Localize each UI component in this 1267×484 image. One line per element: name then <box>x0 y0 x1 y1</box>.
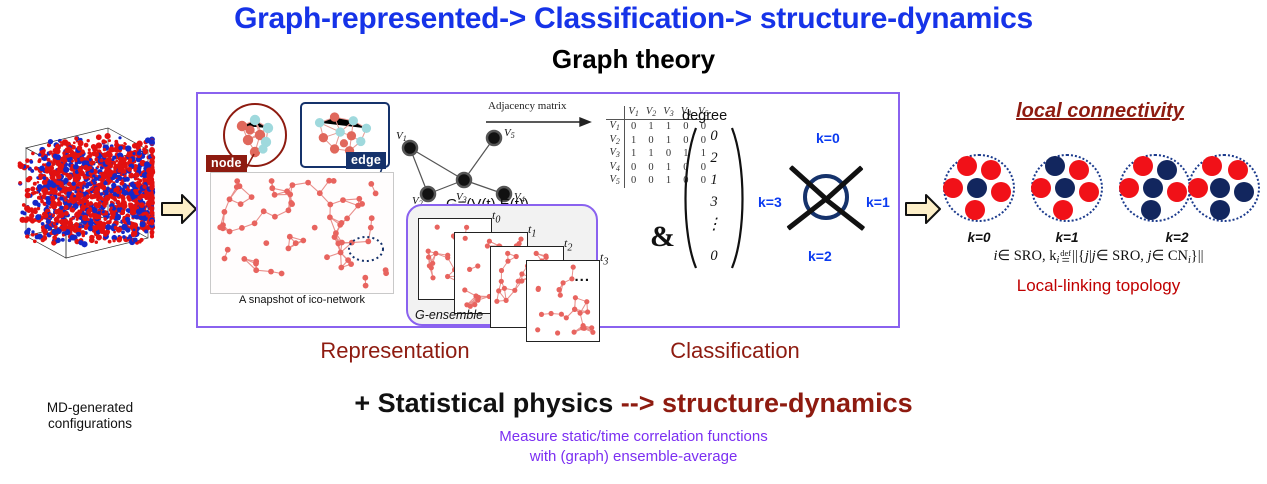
md-atom-blue <box>46 162 51 167</box>
stat-suffix: --> structure-dynamics <box>621 388 913 418</box>
degree-value-2: 1 <box>696 172 732 189</box>
md-atom-red <box>89 187 93 191</box>
mini-node <box>519 271 524 276</box>
md-atom-blue <box>48 139 53 144</box>
md-atom-red <box>69 217 73 221</box>
md-atom-blue <box>92 174 95 177</box>
network-node <box>356 196 362 202</box>
md-atom-red <box>150 211 155 216</box>
network-node <box>287 234 293 240</box>
md-atom-red <box>52 235 57 240</box>
sro-in-sro: ∈ SRO, <box>997 248 1045 264</box>
md-atom-blue <box>61 238 65 242</box>
mini-node <box>572 307 577 312</box>
md-atom-blue <box>76 232 81 237</box>
cluster-label-k0: k=0 <box>934 230 1024 245</box>
md-atom-blue <box>48 226 52 230</box>
md-atom-red <box>144 145 148 149</box>
md-atom-red <box>74 212 80 218</box>
network-node <box>333 230 339 236</box>
atom-blue <box>1045 156 1065 176</box>
md-atom-red <box>62 151 65 154</box>
atom-red <box>943 178 963 198</box>
md-atom-red <box>150 219 154 223</box>
adjacency-col-head-0: V1 <box>624 106 642 120</box>
md-atom-red <box>41 229 44 232</box>
md-atom-red <box>108 139 111 142</box>
md-atom-red <box>126 152 132 158</box>
mini-node <box>426 249 431 254</box>
g-ensemble-box: t0 t1 t2 t3 ... G-ensemble <box>406 204 598 326</box>
mini-node <box>430 275 435 280</box>
md-atom-red <box>105 133 111 139</box>
cluster-label-k2: k=2 <box>1132 230 1222 245</box>
md-atom-red <box>31 210 35 214</box>
md-atom-red <box>80 205 86 211</box>
md-atom-red <box>73 228 78 233</box>
network-node <box>238 201 244 207</box>
md-atom-red <box>126 195 130 199</box>
mini-node <box>514 254 519 259</box>
md-atom-red <box>110 154 113 157</box>
mini-node <box>487 239 492 244</box>
md-atom-blue <box>144 161 150 167</box>
md-atom-red <box>72 153 78 159</box>
network-node <box>327 214 333 220</box>
md-atom-blue <box>121 230 125 234</box>
adjacency-corner-cell <box>606 106 624 120</box>
right-arrow-icon <box>160 192 198 226</box>
network-node <box>269 178 275 184</box>
md-atom-blue <box>63 167 69 173</box>
md-atom-red <box>145 197 148 200</box>
md-atom-red <box>67 187 72 192</box>
adjacency-cell-4-2: 1 <box>660 174 677 188</box>
network-node <box>383 270 389 276</box>
md-atom-red <box>97 165 100 168</box>
md-atom-red <box>128 158 132 162</box>
md-configuration-figure: MD-generated configurations <box>8 108 158 288</box>
md-cube-icon <box>8 108 158 268</box>
atom-red <box>1079 182 1099 202</box>
md-atom-red <box>113 147 119 153</box>
md-atom-red <box>51 162 55 166</box>
adjacency-col-head-2: V3 <box>660 106 677 120</box>
md-atom-red <box>25 234 29 238</box>
md-atom-red <box>121 196 126 201</box>
ensemble-time-3: t3 <box>600 250 608 267</box>
md-atom-blue <box>124 179 127 182</box>
network-node <box>324 254 330 260</box>
md-atom-red <box>150 152 153 155</box>
ampersand-symbol: & <box>650 220 675 254</box>
mini-node <box>536 286 541 291</box>
degree-value-5: 0 <box>696 248 732 265</box>
md-atom-blue <box>90 169 94 173</box>
atom-red <box>957 156 977 176</box>
adjacency-cell-3-2: 1 <box>660 161 677 175</box>
adjacency-cell-3-1: 0 <box>642 161 659 175</box>
md-atom-blue <box>66 191 71 196</box>
md-atom-red <box>49 150 53 154</box>
sro-in-sro2: ∈ SRO, <box>1096 248 1144 264</box>
mini-node <box>504 298 509 303</box>
md-atom-red <box>50 175 55 180</box>
md-atom-red <box>87 139 90 142</box>
network-node <box>268 269 274 275</box>
measure-line-2: with (graph) ensemble-average <box>0 447 1267 467</box>
arrow-md-to-graph <box>160 192 198 231</box>
sro-formula: i∈ SRO, kidef=||{j|j∈ SRO, j∈ CNi}|| <box>930 248 1267 266</box>
arrow-graph-to-connectivity <box>904 192 942 231</box>
adjacency-cell-2-1: 1 <box>642 147 659 161</box>
md-atom-red <box>139 202 145 208</box>
network-node <box>288 200 294 206</box>
md-atom-blue <box>38 153 42 157</box>
md-atom-red <box>64 199 67 202</box>
mini-node <box>518 237 523 242</box>
md-atom-blue <box>39 166 45 172</box>
md-atom-red <box>146 214 149 217</box>
md-atom-red <box>25 192 31 198</box>
network-node <box>227 196 233 202</box>
md-atom-blue <box>130 194 136 200</box>
mini-node <box>499 268 504 273</box>
md-atom-red <box>54 209 60 215</box>
mini-node <box>539 312 544 317</box>
md-atom-blue <box>118 146 123 151</box>
adjacency-cell-3-0: 0 <box>624 161 642 175</box>
network-node <box>290 182 296 188</box>
md-atom-red <box>82 196 88 202</box>
md-atom-red <box>84 165 89 170</box>
adjacency-matrix-title: Adjacency matrix <box>488 100 567 112</box>
md-atom-blue <box>53 154 58 159</box>
right-arrow-icon <box>904 192 942 226</box>
atom-red <box>991 182 1011 202</box>
md-atom-red <box>78 140 82 144</box>
network-node <box>249 194 255 200</box>
atom-red <box>1069 160 1089 180</box>
adjacency-arrow-icon <box>486 116 598 128</box>
md-atom-red <box>66 225 70 229</box>
md-atom-red <box>121 203 127 209</box>
network-node <box>263 240 269 246</box>
mini-node <box>558 293 563 298</box>
network-node <box>373 191 379 197</box>
md-atom-red <box>38 173 42 177</box>
md-atom-red <box>18 161 22 165</box>
md-atom-red <box>74 136 78 140</box>
md-atom-red <box>53 222 56 225</box>
network-node <box>279 271 285 277</box>
cluster-k0 <box>941 152 1017 224</box>
md-atom-blue <box>140 221 146 227</box>
md-atom-red <box>150 232 154 236</box>
network-node <box>368 181 374 187</box>
mini-node <box>494 299 499 304</box>
md-atom-red <box>73 141 76 144</box>
md-atom-red <box>123 216 126 219</box>
md-atom-red <box>81 158 84 161</box>
highlight-ellipse <box>346 234 386 264</box>
md-atom-red <box>94 214 100 220</box>
node-label: node <box>206 155 247 172</box>
atom-blue <box>1143 178 1163 198</box>
md-atom-red <box>89 153 93 157</box>
network-node <box>272 192 278 198</box>
degree-value-4: ⋮ <box>696 214 732 234</box>
md-atom-red <box>150 208 153 211</box>
md-atom-red <box>26 188 30 192</box>
md-atom-red <box>110 214 115 219</box>
atom-red <box>1053 200 1073 220</box>
local-linking-topology-label: Local-linking topology <box>930 276 1267 296</box>
md-atom-blue <box>29 160 33 164</box>
mini-node <box>435 225 440 230</box>
adjacency-cell-1-0: 1 <box>624 134 642 148</box>
atom-red <box>1202 156 1222 176</box>
md-atom-red <box>124 174 127 177</box>
md-atom-blue <box>73 164 79 170</box>
network-node <box>293 240 299 246</box>
md-atom-red <box>84 226 88 230</box>
md-atom-blue <box>124 191 128 195</box>
md-atom-red <box>92 147 97 152</box>
sro-close: }|| <box>1191 248 1204 264</box>
cluster-k2-a <box>1117 152 1193 224</box>
md-atom-blue <box>105 224 111 230</box>
mini-node <box>557 287 562 292</box>
md-atom-red <box>53 148 59 154</box>
md-atom-blue <box>138 190 142 194</box>
md-atom-red <box>117 169 121 173</box>
network-node <box>363 283 369 289</box>
adjacency-cell-4-0: 0 <box>624 174 642 188</box>
md-atom-red <box>34 167 38 171</box>
network-node <box>317 190 323 196</box>
k-label-3: k=3 <box>758 194 782 210</box>
graph-theory-panel: node edge <box>196 92 900 328</box>
atom-blue <box>967 178 987 198</box>
degree-vector: 0 2 1 3 ⋮ 0 <box>676 124 752 272</box>
md-atom-red <box>118 159 124 165</box>
mini-node <box>573 295 578 300</box>
md-atom-blue <box>131 183 136 188</box>
md-atom-red <box>37 159 41 163</box>
network-node <box>222 256 228 262</box>
network-node <box>359 201 365 207</box>
network-node <box>286 207 292 213</box>
md-atom-red <box>73 174 76 177</box>
mini-node <box>464 225 469 230</box>
network-node <box>338 265 344 271</box>
network-node <box>234 184 240 190</box>
network-node <box>222 209 228 215</box>
md-atom-red <box>113 167 117 171</box>
md-atom-red <box>108 240 112 244</box>
md-atom-red <box>137 178 140 181</box>
adjacency-row-head-4: V5 <box>606 174 624 188</box>
md-atom-red <box>131 222 135 226</box>
md-atom-red <box>76 192 81 197</box>
md-atom-blue <box>88 226 94 232</box>
md-atom-red <box>127 167 132 172</box>
mini-node <box>555 330 560 335</box>
md-atom-red <box>43 213 49 219</box>
atom-red <box>981 160 1001 180</box>
network-node <box>338 250 344 256</box>
md-atom-red <box>31 152 35 156</box>
md-atom-blue <box>132 152 135 155</box>
atom-blue <box>1055 178 1075 198</box>
network-node <box>241 256 247 262</box>
page-title: Graph-represented-> Classification-> str… <box>0 2 1267 36</box>
network-node <box>234 178 240 184</box>
md-atom-red <box>149 185 154 190</box>
md-atom-red <box>42 191 47 196</box>
md-atom-blue <box>145 137 151 143</box>
md-atom-blue <box>116 194 119 197</box>
md-atom-red <box>29 213 34 218</box>
cluster-label-k1: k=1 <box>1022 230 1112 245</box>
md-atom-blue <box>41 222 45 226</box>
md-atom-red <box>89 201 93 205</box>
network-node <box>335 241 341 247</box>
md-atom-blue <box>137 151 142 156</box>
atom-red <box>1167 182 1187 202</box>
md-atom-blue <box>92 179 95 182</box>
md-atom-red <box>29 176 32 179</box>
md-atom-red <box>86 208 91 213</box>
md-atom-red <box>92 194 97 199</box>
md-atom-red <box>94 152 99 157</box>
md-atom-red <box>88 148 91 151</box>
network-node <box>368 225 374 231</box>
mini-node <box>445 274 450 279</box>
md-atom-blue <box>100 192 104 196</box>
md-atom-red <box>52 170 57 175</box>
md-atom-red <box>61 225 67 231</box>
md-atom-red <box>134 177 137 180</box>
md-atom-red <box>145 203 148 206</box>
mini-node <box>505 259 510 264</box>
md-atom-red <box>41 238 46 243</box>
adjacency-cell-0-0: 0 <box>624 120 642 134</box>
md-atom-blue <box>45 196 50 201</box>
md-atom-red <box>47 191 51 195</box>
sro-k-sub: i <box>1056 255 1059 266</box>
mini-node <box>572 330 577 335</box>
mini-node <box>472 302 477 307</box>
network-node <box>239 225 245 231</box>
mini-node <box>590 330 595 335</box>
md-atom-red <box>55 180 60 185</box>
md-atom-red <box>72 208 75 211</box>
md-atom-red <box>62 156 65 159</box>
md-atom-blue <box>82 186 85 189</box>
md-atom-red <box>39 193 42 196</box>
atom-blue <box>1157 160 1177 180</box>
md-atom-red <box>105 159 111 165</box>
md-atom-blue <box>106 187 110 191</box>
mini-node <box>584 299 589 304</box>
adjacency-cell-2-2: 0 <box>660 147 677 161</box>
mini-node <box>433 251 438 256</box>
md-atom-blue <box>122 235 126 239</box>
md-atom-red <box>58 167 63 172</box>
atom-blue <box>1234 182 1254 202</box>
md-atom-red <box>30 186 35 191</box>
md-atom-blue <box>118 136 121 139</box>
md-atom-blue <box>115 179 119 183</box>
md-atom-red <box>37 181 40 184</box>
mini-node <box>475 263 480 268</box>
md-atom-red <box>92 161 95 164</box>
classification-label: Classification <box>590 338 880 364</box>
md-atom-blue <box>109 189 113 193</box>
md-atom-blue <box>133 237 138 242</box>
md-atom-red <box>108 220 112 224</box>
network-node <box>340 197 346 203</box>
adjacency-row-head-3: V4 <box>606 161 624 175</box>
md-atom-red <box>76 183 80 187</box>
network-node <box>272 214 278 220</box>
g-ensemble-label: G-ensemble <box>415 308 483 322</box>
md-atom-red <box>134 172 140 178</box>
md-atom-red <box>33 182 37 186</box>
md-atom-red <box>148 204 152 208</box>
md-atom-red <box>140 238 144 242</box>
md-atom-red <box>149 147 155 153</box>
mini-node <box>549 311 554 316</box>
edge-label: edge <box>346 152 386 169</box>
adjacency-cell-1-1: 0 <box>642 134 659 148</box>
network-node <box>300 238 306 244</box>
md-atom-blue <box>106 215 110 219</box>
mini-node <box>543 253 548 258</box>
md-atom-blue <box>89 158 92 161</box>
md-atom-red <box>143 149 148 154</box>
md-atom-blue <box>121 224 127 230</box>
cluster-k1 <box>1029 152 1105 224</box>
ico-network-graph-icon <box>211 173 393 293</box>
md-atom-red <box>99 144 102 147</box>
mini-node <box>462 287 467 292</box>
adjacency-cell-0-1: 1 <box>642 120 659 134</box>
network-node <box>344 216 350 222</box>
md-atom-blue <box>112 173 117 178</box>
md-atom-red <box>98 220 103 225</box>
mini-node <box>519 278 524 283</box>
md-atom-red <box>134 164 138 168</box>
md-atom-red <box>72 200 76 204</box>
md-atom-red <box>65 196 68 199</box>
md-atom-red <box>104 154 107 157</box>
md-atom-blue <box>85 184 89 188</box>
md-atom-blue <box>64 178 68 182</box>
snapshot-caption: A snapshot of ico-network <box>204 294 400 306</box>
md-atom-blue <box>35 235 40 240</box>
md-atom-blue <box>23 211 27 215</box>
md-atom-red <box>118 202 121 205</box>
measure-line-1: Measure static/time correlation function… <box>0 427 1267 447</box>
md-atom-red <box>120 181 124 185</box>
md-atom-blue <box>127 221 131 225</box>
degree-value-0: 0 <box>696 128 732 145</box>
md-atom-red <box>34 208 37 211</box>
network-node <box>337 222 343 228</box>
